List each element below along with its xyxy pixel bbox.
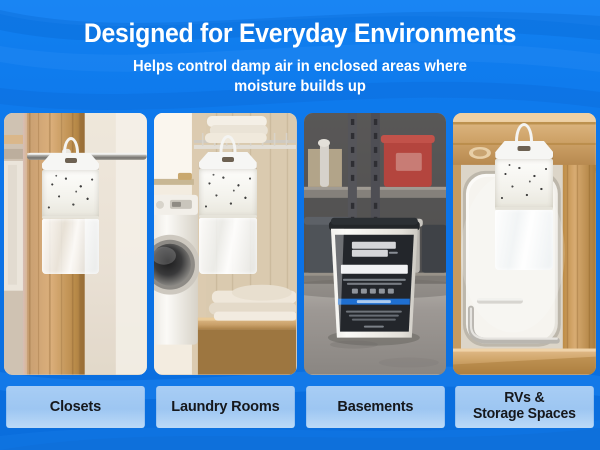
label-laundry-rooms[interactable]: Laundry Rooms [156,386,294,428]
label-rvs-line-2: Storage Spaces [473,407,576,423]
dehumidifier-bag-closet [42,137,99,277]
panel-basements[interactable] [304,113,447,375]
panel-closets[interactable] [4,113,147,375]
label-rvs-storage-spaces[interactable]: RVs & Storage Spaces [455,386,593,428]
basement-scene-image [304,113,447,375]
page-subtitle: Helps control damp air in enclosed areas… [15,47,585,97]
subtitle-line-1: Helps control damp air in enclosed areas… [15,57,585,77]
panel-rvs-storage-spaces[interactable] [453,113,596,375]
product-tub [328,218,419,338]
label-basements-text: Basements [337,399,413,415]
header: Designed for Everyday Environments Helps… [0,0,600,112]
panel-laundry-rooms[interactable] [154,113,297,375]
page-title: Designed for Everyday Environments [24,0,576,47]
label-closets-text: Closets [50,399,101,415]
label-row: Closets Laundry Rooms Basements RVs & St… [4,386,596,428]
panel-grid [4,113,596,375]
dehumidifier-bag-laundry [199,135,257,277]
label-laundry-rooms-text: Laundry Rooms [171,399,279,415]
label-basements[interactable]: Basements [306,386,444,428]
label-closets[interactable]: Closets [6,386,144,428]
dehumidifier-bag-rv [495,123,553,273]
label-rvs-line-1: RVs & [473,391,576,407]
subtitle-line-2: moisture builds up [15,77,585,97]
